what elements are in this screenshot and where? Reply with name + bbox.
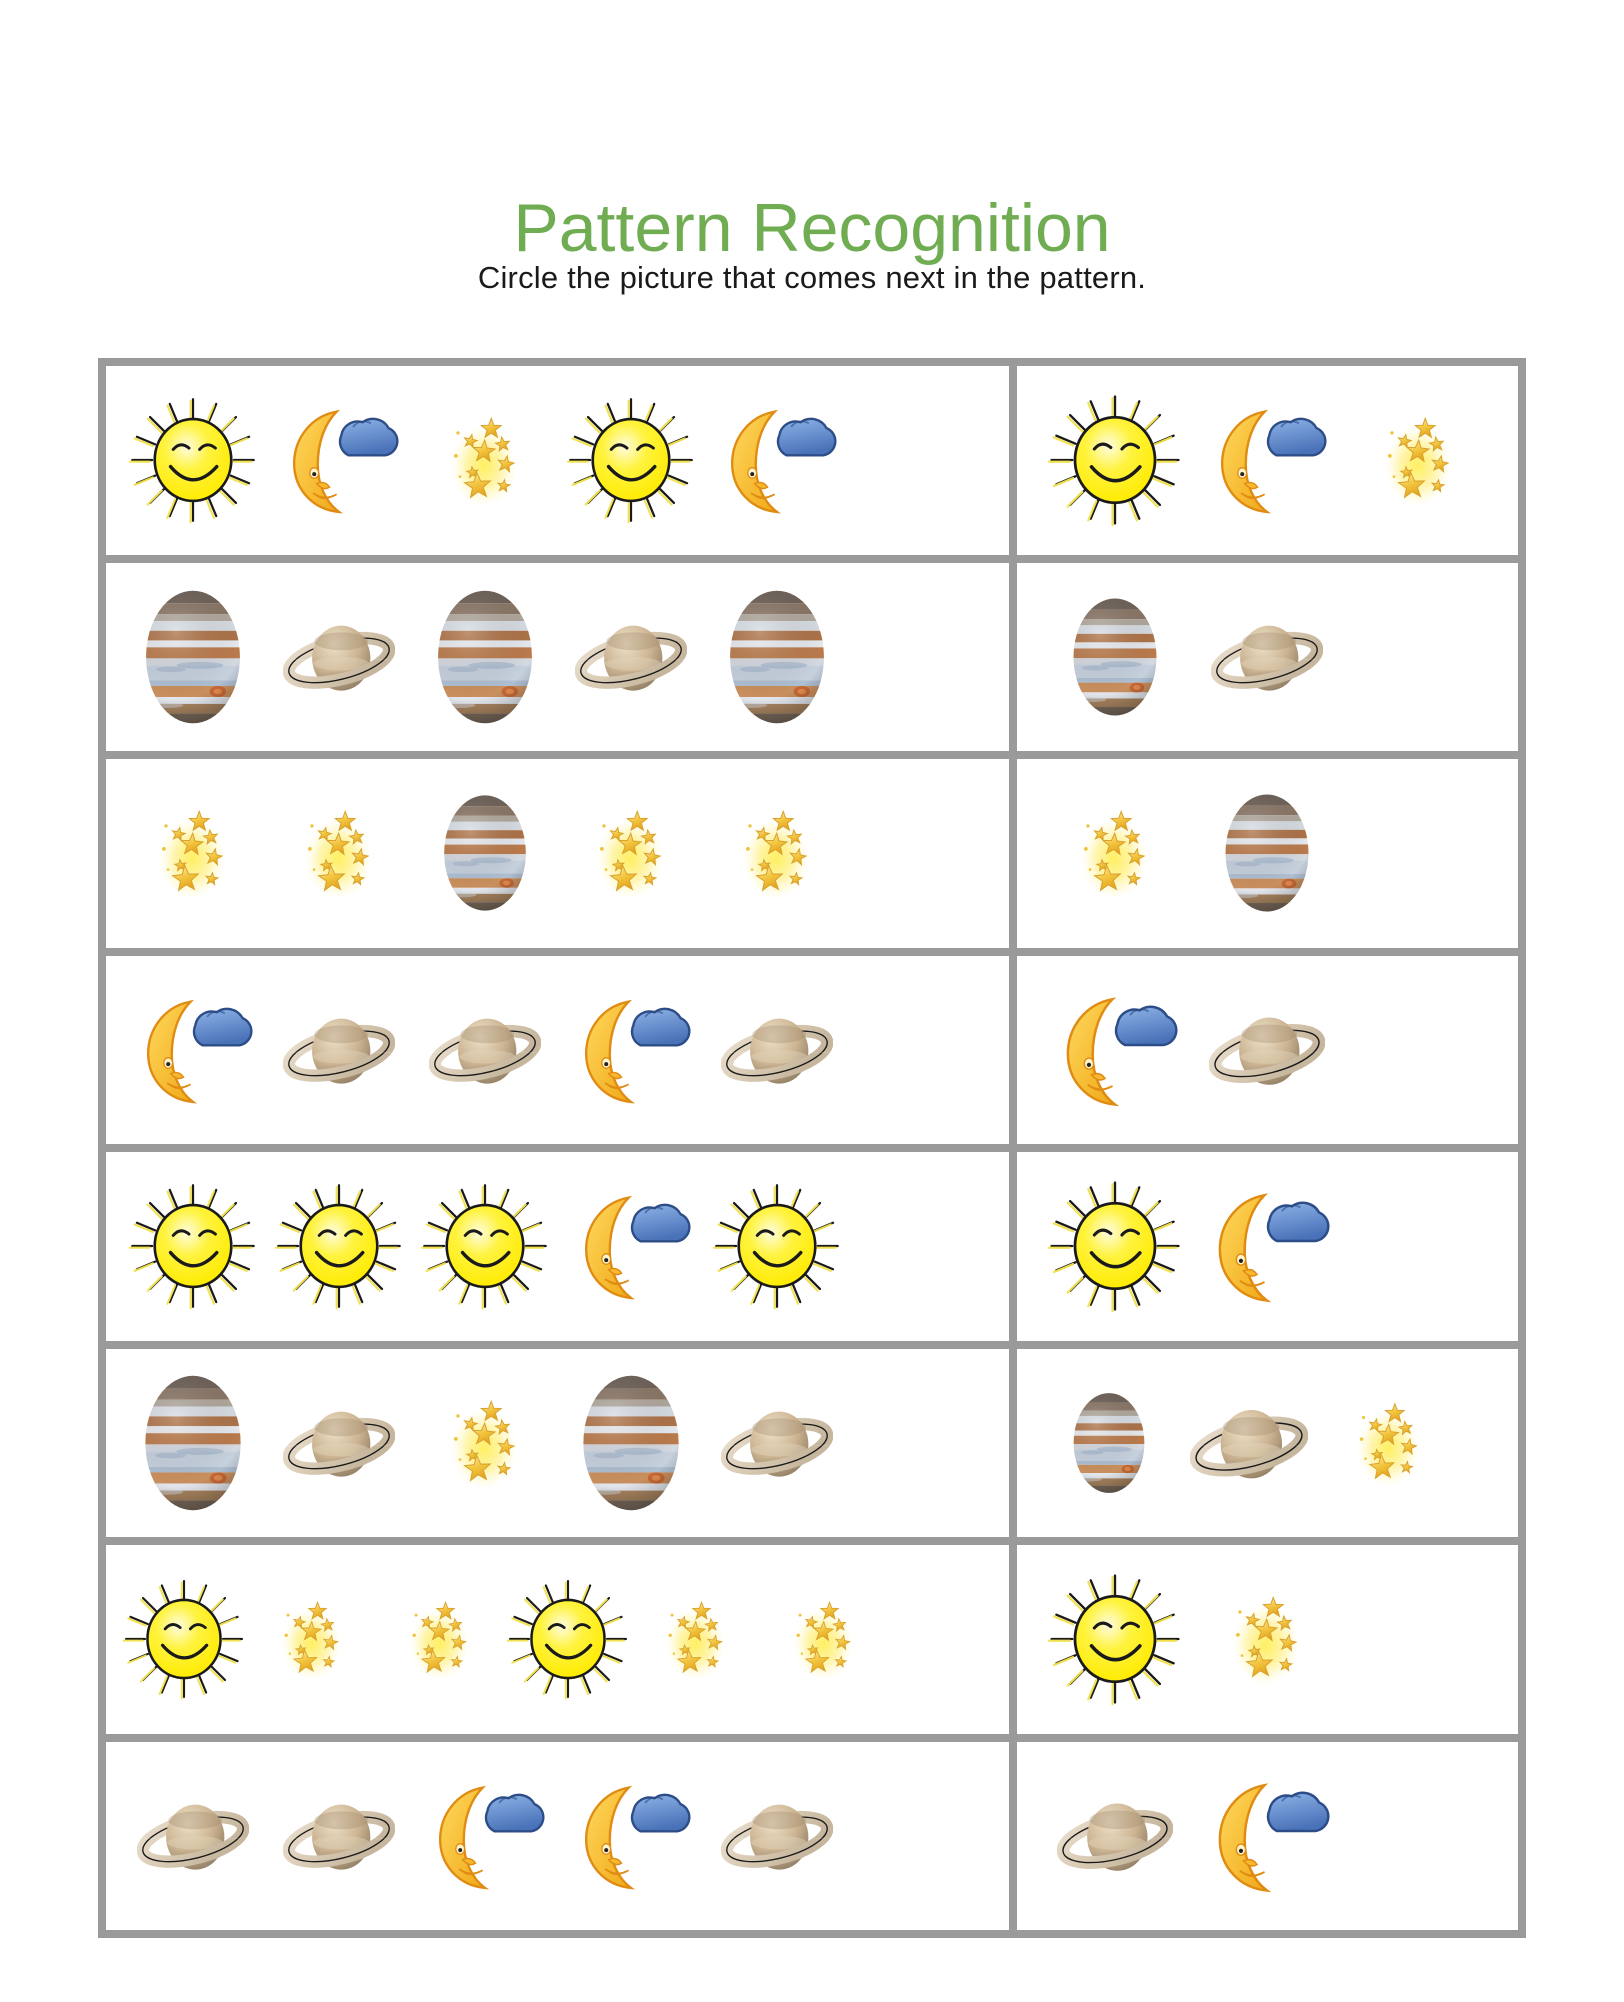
moon-cloud-icon [558,1152,704,1341]
jupiter-planet-icon [120,1349,266,1538]
saturn-planet-icon [120,1742,266,1931]
pattern-row [106,563,1518,752]
instruction-text: Circle the picture that comes next in th… [0,262,1624,293]
saturn-planet-icon [704,1349,850,1538]
pattern-sequence-cell-4 [106,956,1009,1145]
answer-choice-sun-icon[interactable] [1039,366,1191,555]
pattern-sequence-cell-2 [106,563,1009,752]
answer-choice-sun-icon[interactable] [1039,1152,1191,1341]
stars-icon [376,1545,504,1734]
page-title: Pattern Recognition [0,194,1624,262]
moon-cloud-icon [412,1742,558,1931]
moon-cloud-icon [704,366,850,555]
saturn-planet-icon [266,563,412,752]
pattern-sequence-cell-8 [106,1742,1009,1931]
jupiter-planet-icon [412,759,558,948]
pattern-sequence-cell-1 [106,366,1009,555]
moon-cloud-icon [120,956,266,1145]
jupiter-planet-icon [558,1349,704,1538]
pattern-grid [98,358,1526,1938]
answer-choice-moon-cloud-icon[interactable] [1191,366,1343,555]
saturn-planet-icon [704,956,850,1145]
pattern-sequence-cell-3 [106,759,1009,948]
pattern-sequence-cell-5 [106,1152,1009,1341]
pattern-row [106,1152,1518,1341]
pattern-row [106,1349,1518,1538]
saturn-planet-icon [266,956,412,1145]
answer-choice-sun-icon[interactable] [1039,1545,1191,1734]
answer-choices-cell-3 [1017,759,1518,948]
pattern-row [106,759,1518,948]
worksheet-page: Pattern Recognition Circle the picture t… [0,0,1624,2002]
sun-icon [120,366,266,555]
sun-icon [120,1152,266,1341]
saturn-planet-icon [266,1349,412,1538]
answer-choice-moon-cloud-icon[interactable] [1191,1152,1343,1341]
sun-icon [558,366,704,555]
saturn-planet-icon [558,563,704,752]
answer-choice-moon-cloud-icon[interactable] [1191,1742,1343,1931]
answer-choice-moon-cloud-icon[interactable] [1039,956,1191,1145]
stars-icon [266,759,412,948]
jupiter-planet-icon [704,563,850,752]
stars-icon [760,1545,888,1734]
stars-icon [632,1545,760,1734]
stars-icon [704,759,850,948]
pattern-row [106,956,1518,1145]
answer-choices-cell-5 [1017,1152,1518,1341]
pattern-row [106,1545,1518,1734]
jupiter-planet-icon [120,563,266,752]
answer-choice-stars-icon[interactable] [1191,1545,1343,1734]
moon-cloud-icon [558,1742,704,1931]
pattern-sequence-cell-7 [106,1545,1009,1734]
stars-icon [120,759,266,948]
stars-icon [412,1349,558,1538]
saturn-planet-icon [704,1742,850,1931]
stars-icon [248,1545,376,1734]
moon-cloud-icon [266,366,412,555]
answer-choices-cell-8 [1017,1742,1518,1931]
answer-choice-jupiter-planet-icon[interactable] [1039,563,1191,752]
saturn-planet-icon [266,1742,412,1931]
stars-icon [412,366,558,555]
answer-choices-cell-4 [1017,956,1518,1145]
answer-choice-jupiter-planet-icon[interactable] [1191,759,1343,948]
pattern-row [106,1742,1518,1931]
answer-choices-cell-6 [1017,1349,1518,1538]
answer-choice-stars-icon[interactable] [1343,366,1495,555]
answer-choices-cell-7 [1017,1545,1518,1734]
answer-choice-jupiter-planet-icon[interactable] [1039,1349,1179,1538]
stars-icon [558,759,704,948]
sun-icon [120,1545,248,1734]
jupiter-planet-icon [412,563,558,752]
pattern-row [106,366,1518,555]
answer-choices-cell-2 [1017,563,1518,752]
saturn-planet-icon [412,956,558,1145]
answer-choice-saturn-planet-icon[interactable] [1039,1742,1191,1931]
pattern-sequence-cell-6 [106,1349,1009,1538]
answer-choices-cell-1 [1017,366,1518,555]
sun-icon [266,1152,412,1341]
answer-choice-saturn-planet-icon[interactable] [1191,563,1343,752]
sun-icon [504,1545,632,1734]
answer-choice-stars-icon[interactable] [1319,1349,1459,1538]
sun-icon [704,1152,850,1341]
answer-choice-saturn-planet-icon[interactable] [1191,956,1343,1145]
answer-choice-saturn-planet-icon[interactable] [1179,1349,1319,1538]
moon-cloud-icon [558,956,704,1145]
sun-icon [412,1152,558,1341]
answer-choice-stars-icon[interactable] [1039,759,1191,948]
